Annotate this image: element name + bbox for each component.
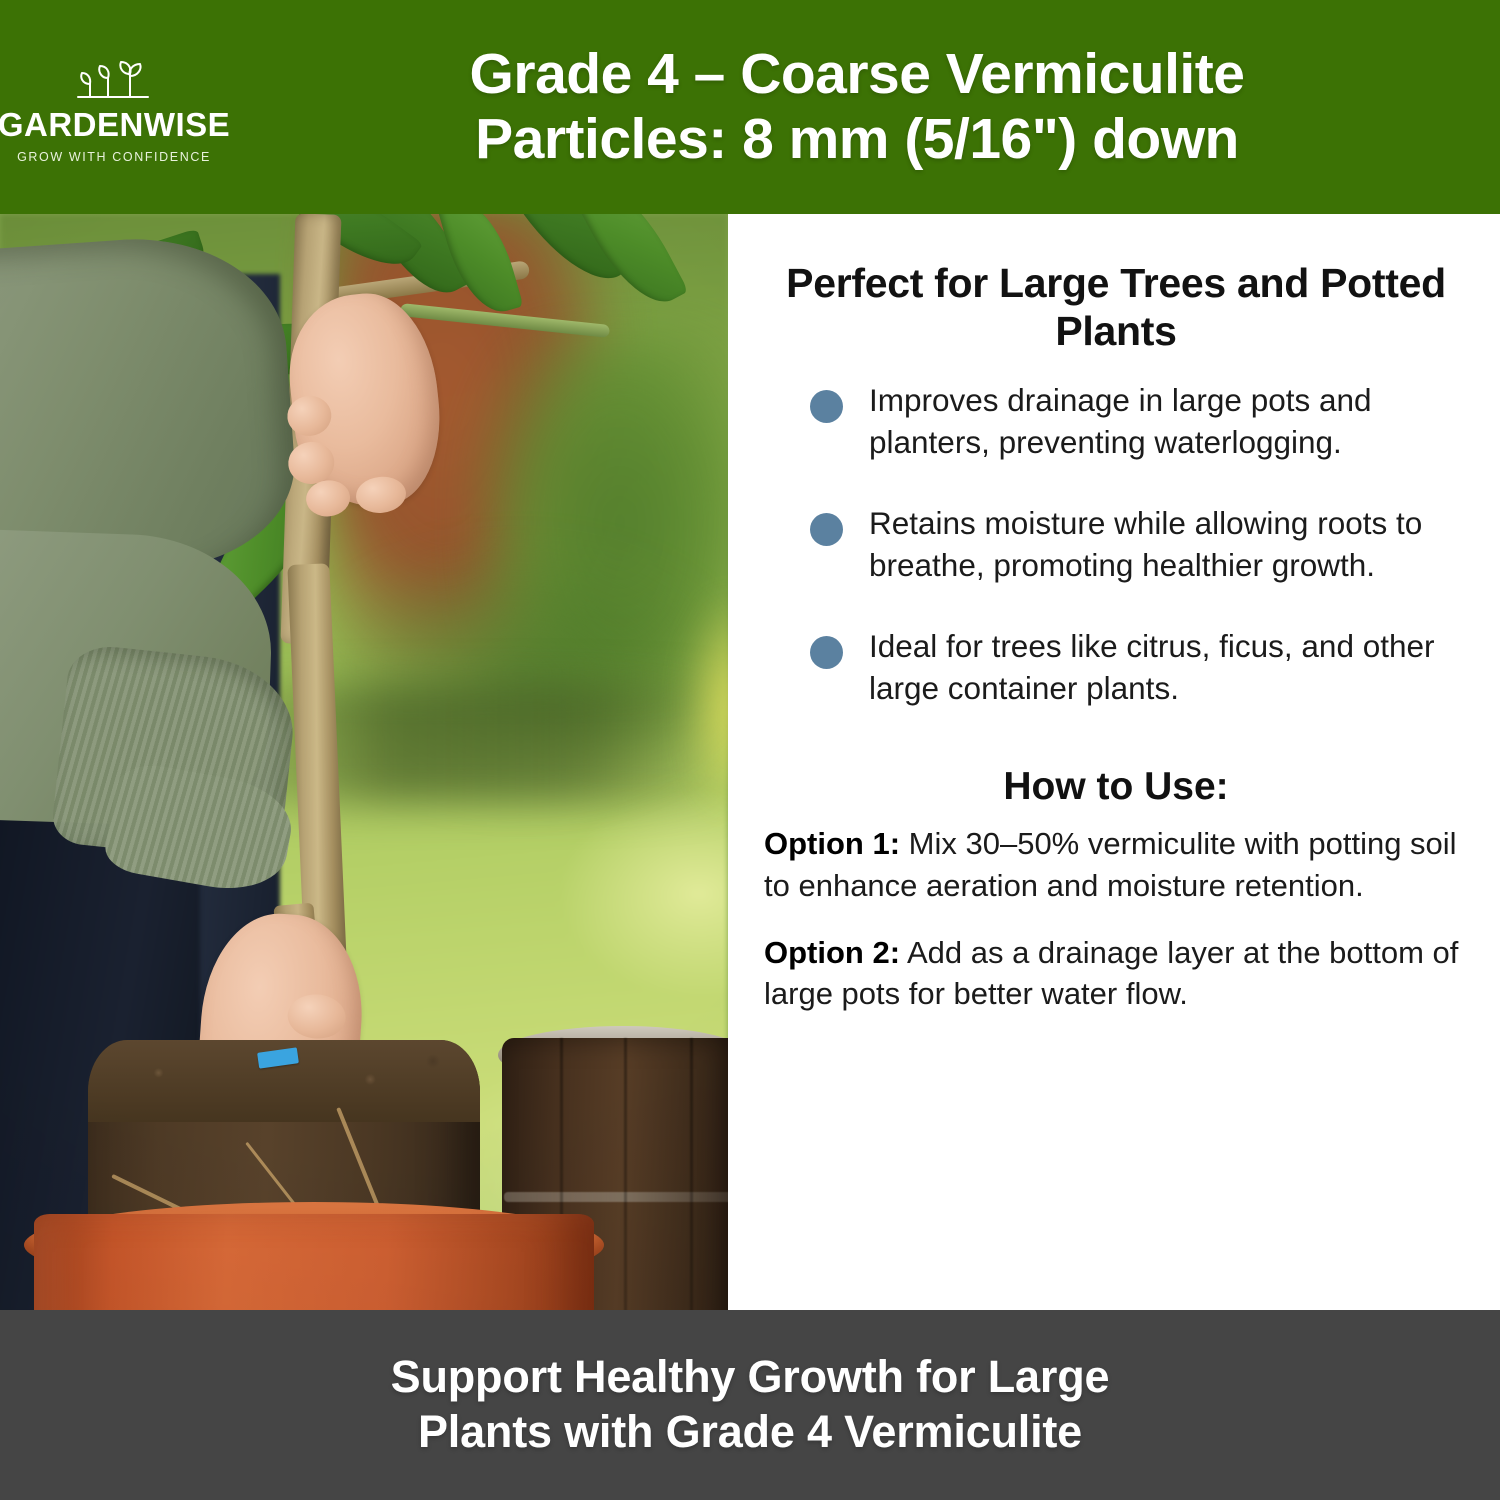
bullet-dot-icon (810, 390, 843, 423)
wood-grain-line (690, 1038, 693, 1310)
how-to-use-title: How to Use: (764, 765, 1468, 809)
footer-line-1: Support Healthy Growth for Large (391, 1350, 1110, 1405)
bullet-text: Retains moisture while allowing roots to… (869, 503, 1468, 586)
header-title-line-1: Grade 4 – Coarse Vermiculite (470, 42, 1245, 107)
wooden-planter-band (504, 1192, 728, 1202)
content-area: Perfect for Large Trees and Potted Plant… (0, 214, 1500, 1310)
bullet-text: Improves drainage in large pots and plan… (869, 380, 1468, 463)
footer-banner: Support Healthy Growth for Large Plants … (0, 1310, 1500, 1500)
how-to-use-section: How to Use: Option 1: Mix 30–50% vermicu… (764, 765, 1468, 1014)
header-banner: GARDENWISE GROW WITH CONFIDENCE Grade 4 … (0, 0, 1500, 214)
list-item: Retains moisture while allowing roots to… (764, 503, 1468, 586)
usage-option-1: Option 1: Mix 30–50% vermiculite with po… (764, 823, 1468, 905)
terracotta-pot (34, 1214, 594, 1310)
bullet-dot-icon (810, 513, 843, 546)
finger (286, 993, 347, 1041)
panel-heading: Perfect for Large Trees and Potted Plant… (764, 260, 1468, 356)
wood-grain-line (624, 1038, 627, 1310)
list-item: Ideal for trees like citrus, ficus, and … (764, 626, 1468, 709)
brand-tagline: GROW WITH CONFIDENCE (17, 150, 211, 164)
photo-background-highlight (690, 594, 728, 814)
benefits-list: Improves drainage in large pots and plan… (764, 380, 1468, 709)
features-panel: Perfect for Large Trees and Potted Plant… (728, 214, 1500, 1310)
bullet-dot-icon (810, 636, 843, 669)
brand-name: GARDENWISE (0, 108, 230, 141)
option-1-label: Option 1: (764, 826, 900, 861)
sprout-leaves-icon (62, 54, 166, 106)
brand-logo: GARDENWISE GROW WITH CONFIDENCE (0, 50, 228, 164)
option-2-label: Option 2: (764, 935, 900, 970)
footer-line-2: Plants with Grade 4 Vermiculite (418, 1405, 1082, 1460)
usage-option-2: Option 2: Add as a drainage layer at the… (764, 932, 1468, 1014)
bullet-text: Ideal for trees like citrus, ficus, and … (869, 626, 1468, 709)
infographic-page: GARDENWISE GROW WITH CONFIDENCE Grade 4 … (0, 0, 1500, 1500)
product-photo (0, 214, 728, 1310)
list-item: Improves drainage in large pots and plan… (764, 380, 1468, 463)
header-title-line-2: Particles: 8 mm (5/16") down (475, 107, 1239, 172)
header-title-group: Grade 4 – Coarse Vermiculite Particles: … (228, 42, 1500, 172)
